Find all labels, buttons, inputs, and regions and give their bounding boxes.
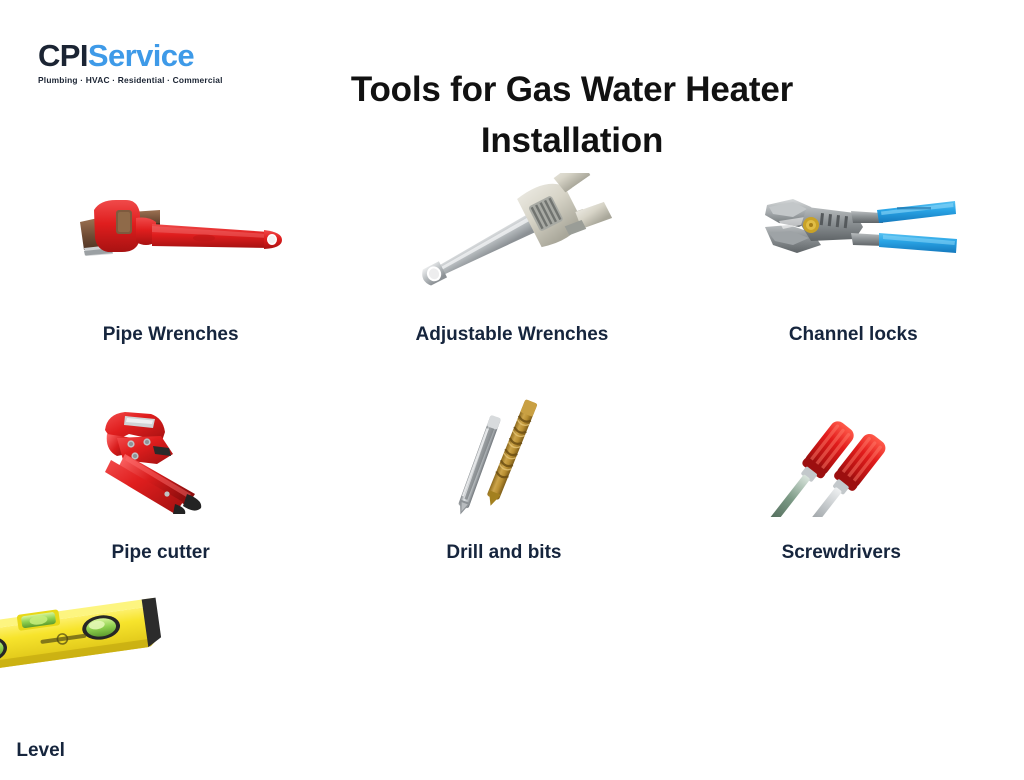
- tool-card-pipe-cutter: Pipe cutter: [0, 394, 341, 594]
- logo-tagline: Plumbing · HVAC · Residential · Commerci…: [38, 75, 238, 85]
- channel-locks-icon: [689, 168, 1024, 298]
- logo-text-service: Service: [88, 38, 194, 73]
- screwdrivers-icon: [671, 394, 1012, 524]
- tool-label: Adjustable Wrenches: [416, 324, 609, 346]
- tool-grid: Pipe Wrenches: [0, 160, 1024, 768]
- tool-card-adjustable-wrenches: Adjustable Wrenches: [341, 168, 682, 368]
- tool-label: Pipe Wrenches: [103, 324, 239, 346]
- tool-label: Screwdrivers: [782, 542, 901, 564]
- tool-label: Pipe cutter: [112, 542, 210, 564]
- page-title: Tools for Gas Water Heater Installation: [262, 65, 882, 167]
- tool-card-level: Level: [0, 580, 341, 780]
- tool-label: Channel locks: [789, 324, 918, 346]
- tool-label: Level: [16, 740, 65, 762]
- tool-card-empty: [683, 580, 1024, 780]
- pipe-wrench-icon: [6, 168, 347, 298]
- tool-card-channel-locks: Channel locks: [683, 168, 1024, 368]
- tool-row: Level: [0, 580, 1024, 780]
- tool-label: Drill and bits: [446, 542, 561, 564]
- tool-card-screwdrivers: Screwdrivers: [683, 394, 1024, 594]
- tool-card-empty: [341, 580, 682, 780]
- tool-card-pipe-wrenches: Pipe Wrenches: [0, 168, 341, 368]
- spirit-level-icon: [0, 580, 211, 710]
- logo-text-cpi: CPI: [38, 38, 88, 73]
- logo-wordmark: CPIService: [38, 40, 238, 71]
- tool-row: Pipe Wrenches: [0, 168, 1024, 368]
- pipe-cutter-icon: [0, 394, 331, 524]
- drill-bits-icon: [333, 394, 674, 524]
- adjustable-wrench-icon: [341, 168, 682, 298]
- page-header: CPIService Plumbing · HVAC · Residential…: [0, 0, 1024, 150]
- tool-row: Pipe cutter: [0, 394, 1024, 594]
- brand-logo: CPIService Plumbing · HVAC · Residential…: [38, 40, 238, 85]
- tool-card-drill-and-bits: Drill and bits: [341, 394, 682, 594]
